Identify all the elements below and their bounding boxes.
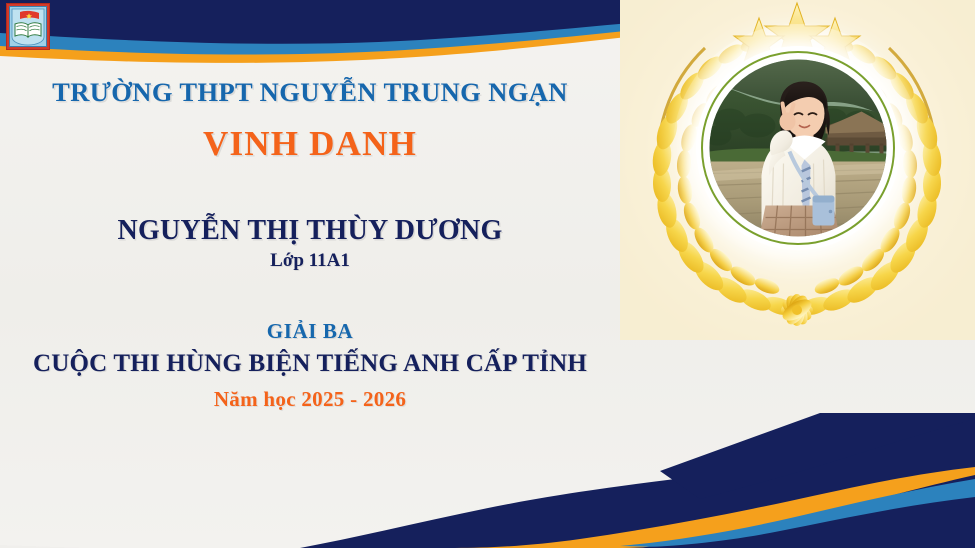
award-text-column: TRƯỜNG THPT NGUYỄN TRUNG NGẠN VINH DANH …	[0, 62, 620, 422]
student-name: NGUYỄN THỊ THÙY DƯƠNG	[0, 216, 620, 247]
prize-label: GIẢI BA	[0, 320, 620, 343]
school-emblem-icon	[6, 3, 50, 50]
student-portrait	[709, 60, 886, 237]
honor-heading: VINH DANH	[0, 125, 620, 164]
contest-name: CUỘC THI HÙNG BIỆN TIẾNG ANH CẤP TỈNH	[0, 350, 620, 378]
award-slide: TRƯỜNG THPT NGUYỄN TRUNG NGẠN VINH DANH …	[0, 0, 975, 548]
bottom-wave-banner	[0, 413, 975, 548]
school-year: Năm học 2025 - 2026	[0, 388, 620, 411]
school-title: TRƯỜNG THPT NGUYỄN TRUNG NGẠN	[0, 78, 620, 107]
student-class: Lớp 11A1	[0, 251, 620, 272]
photo-panel	[620, 0, 975, 340]
